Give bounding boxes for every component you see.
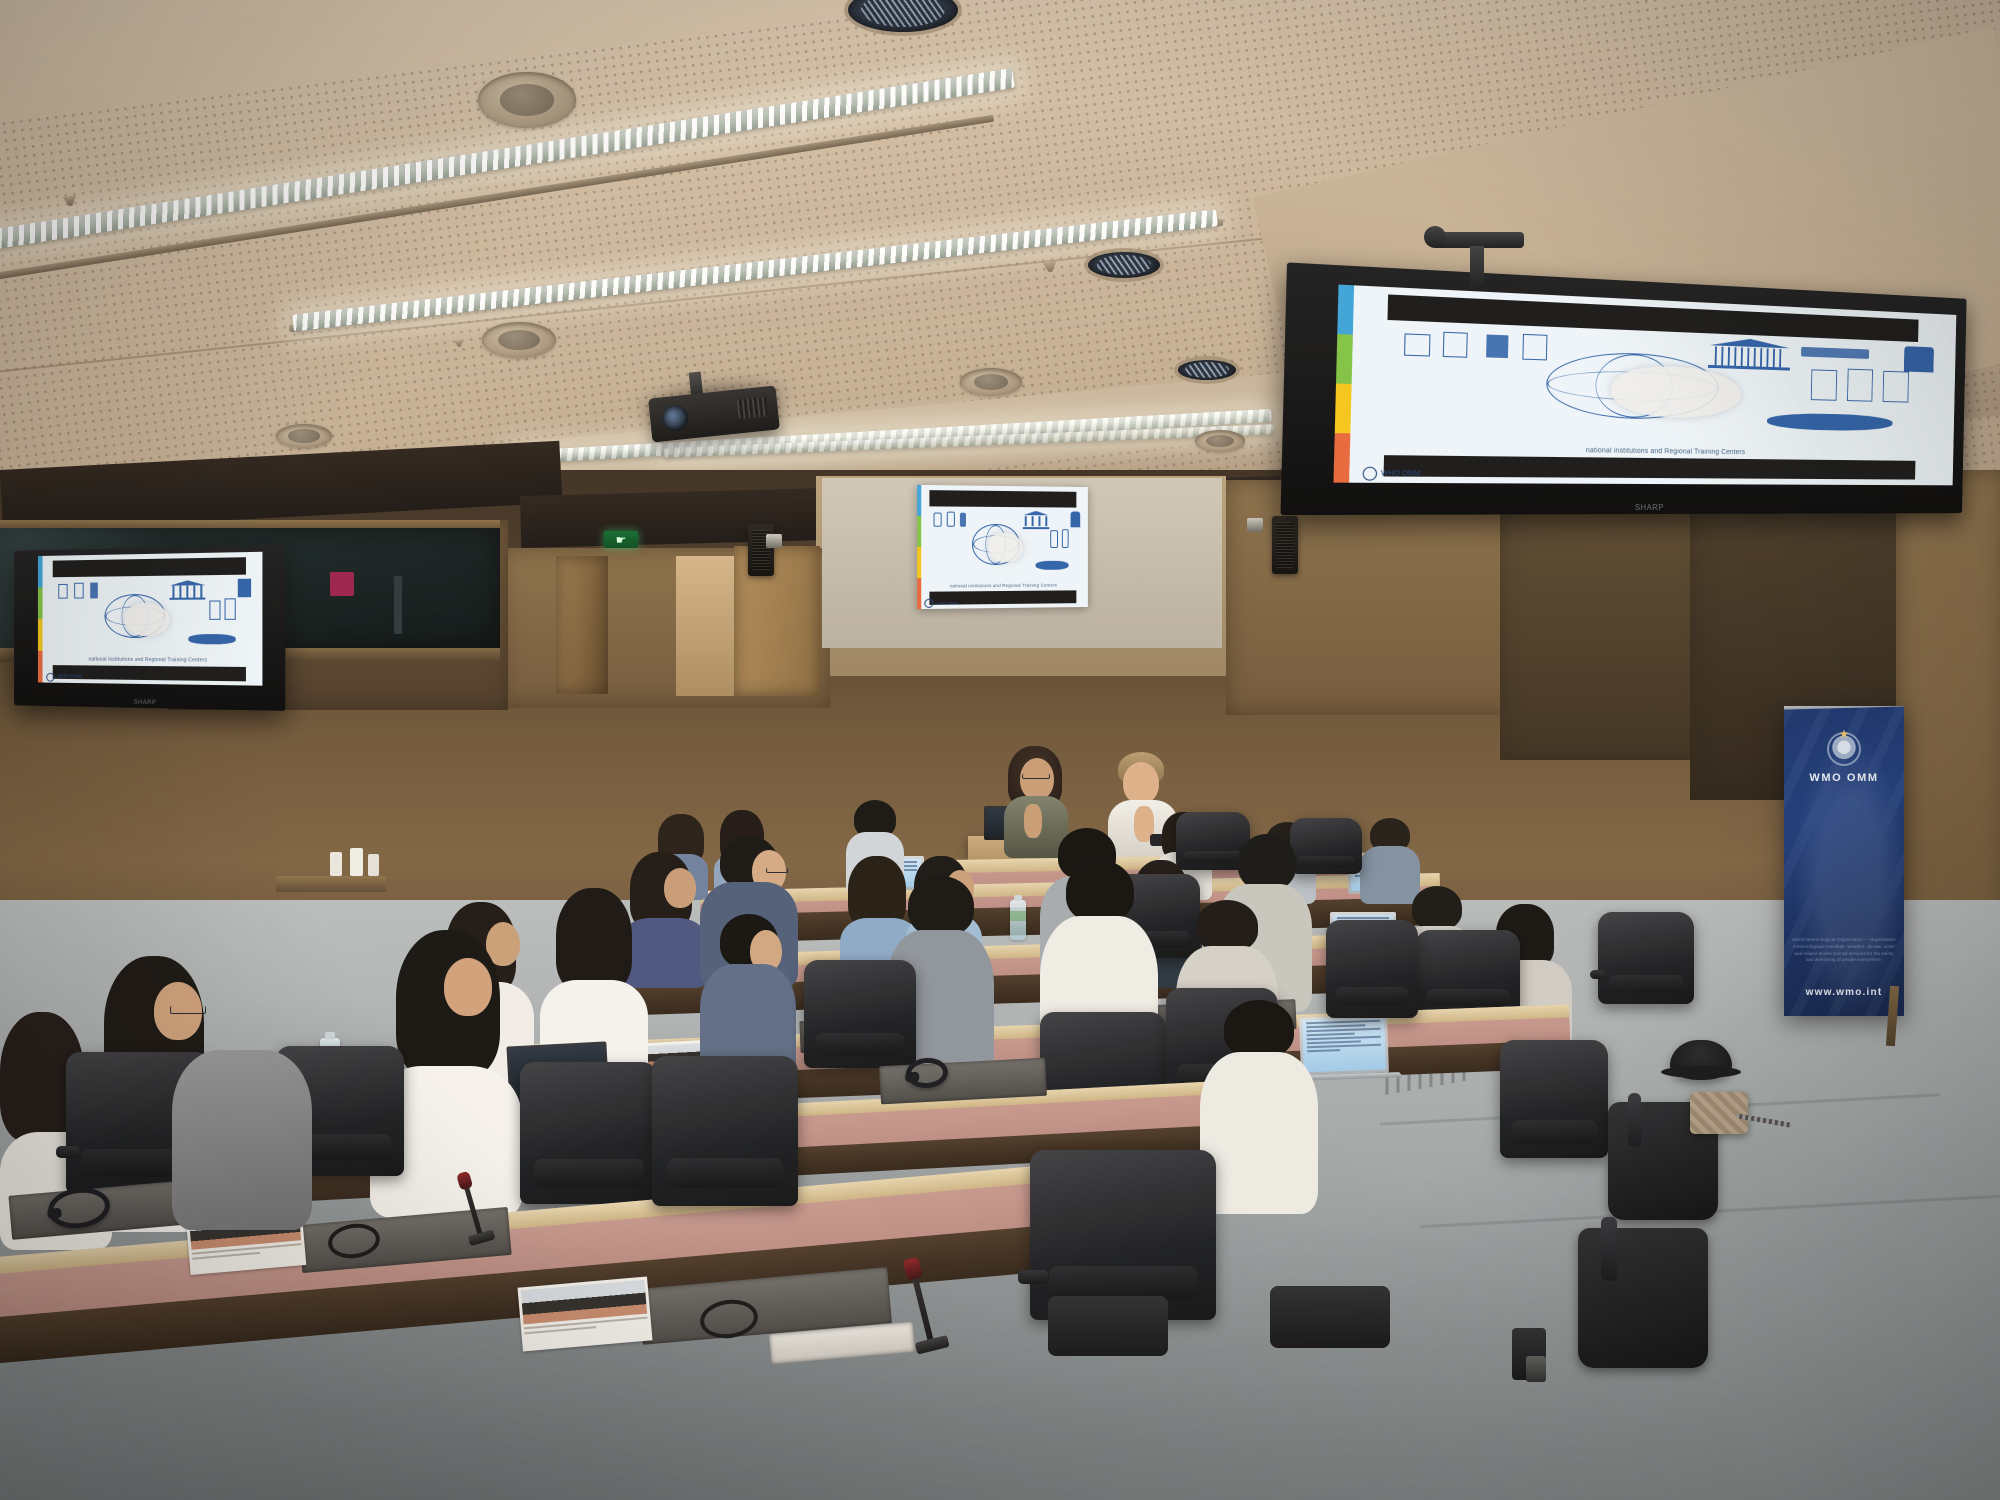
map-blob-icon xyxy=(1035,560,1069,570)
tv-brand-label: SHARP xyxy=(1635,503,1664,512)
institution-building-icon xyxy=(170,580,206,600)
banner-org-name: WMO OMM xyxy=(1784,772,1904,784)
slide-artwork xyxy=(1363,323,1934,444)
chair[interactable] xyxy=(1500,1040,1608,1158)
slide-caption: national institutions and Regional Train… xyxy=(928,583,1078,589)
person-figure-icon xyxy=(225,599,236,620)
slide-artwork xyxy=(924,509,1081,580)
water-bottle xyxy=(1010,900,1026,940)
person-figure-icon xyxy=(1404,334,1430,357)
chair[interactable] xyxy=(804,960,916,1068)
slide-color-ribbon xyxy=(38,556,43,683)
slide-letterbox-top xyxy=(53,557,246,577)
tv-right: national institutions and Regional Train… xyxy=(1280,262,1966,515)
tv-brand-label: SHARP xyxy=(134,700,157,706)
slide-logo-text: WHO OMM xyxy=(58,674,82,680)
handbag xyxy=(1690,1092,1748,1134)
map-blob-icon xyxy=(1767,413,1893,432)
booth-divider xyxy=(394,576,402,634)
cup-stack xyxy=(350,848,363,876)
booth-sign xyxy=(330,572,354,596)
person-figure-icon xyxy=(1486,335,1508,359)
chair-seat[interactable] xyxy=(1270,1286,1390,1348)
person-figure-icon xyxy=(1847,369,1873,402)
printed-handout xyxy=(517,1276,652,1351)
ceiling-vent xyxy=(1088,252,1160,278)
glasses-icon xyxy=(1022,774,1050,779)
chair[interactable] xyxy=(652,1056,798,1206)
banner-blurb: World Meteorological Organization — Orga… xyxy=(1792,937,1896,964)
slide-logo: WHO OMM xyxy=(46,673,81,682)
slide-logo: WHO OMM xyxy=(924,598,957,607)
person-figure-icon xyxy=(1904,346,1934,373)
banner-url: www.wmo.int xyxy=(1784,987,1904,998)
face xyxy=(1020,758,1054,800)
ceiling-speaker xyxy=(478,72,576,128)
ceiling-speaker xyxy=(482,322,556,358)
slide-logo-text: WHO OMM xyxy=(1381,470,1421,478)
wall-speaker xyxy=(748,524,774,576)
ceiling-speaker xyxy=(276,424,332,448)
map-blob-icon xyxy=(189,634,236,645)
slide-letterbox-bottom xyxy=(53,665,246,682)
un-emblem-icon xyxy=(924,599,933,608)
person-figure-icon xyxy=(934,513,942,527)
door[interactable] xyxy=(556,556,608,694)
exit-running-man-icon: ☛ xyxy=(616,534,627,546)
hat xyxy=(1670,1040,1732,1080)
chair-seat[interactable] xyxy=(1048,1296,1168,1356)
projector-vent-icon xyxy=(737,396,769,419)
backpack xyxy=(1578,1228,1708,1368)
wall-camera-icon xyxy=(1247,518,1263,532)
door-open[interactable] xyxy=(676,556,734,696)
face xyxy=(1123,762,1159,804)
exit-sign: ☛ xyxy=(604,531,638,548)
person-figure-icon xyxy=(1061,529,1069,548)
person-figure-icon xyxy=(238,579,251,597)
person-figure-icon xyxy=(1051,530,1059,548)
chair[interactable] xyxy=(1326,920,1418,1018)
slide-content: national institutions and Regional Train… xyxy=(917,485,1088,609)
person-figure-icon xyxy=(1810,370,1837,401)
slide-letterbox-bottom xyxy=(1383,455,1915,480)
wall-camera-icon xyxy=(766,534,782,548)
projector-lens-icon xyxy=(661,404,690,433)
tv-mount-post xyxy=(1470,246,1484,290)
person-figure-icon xyxy=(947,512,955,528)
books-icon xyxy=(1801,347,1869,359)
side-table xyxy=(276,876,386,892)
attendee xyxy=(172,1050,312,1250)
slide-content: national institutions and Regional Train… xyxy=(1333,285,1956,486)
chair[interactable] xyxy=(520,1062,658,1204)
slide-logo: WHO OMM xyxy=(1362,467,1420,481)
cup-stack xyxy=(330,852,342,876)
person-figure-icon xyxy=(90,583,98,598)
person-figure-icon xyxy=(74,582,84,598)
wmo-crest-icon xyxy=(1827,732,1861,766)
person-figure-icon xyxy=(210,600,221,620)
slide-content: national institutions and Regional Train… xyxy=(38,552,263,686)
person-figure-icon xyxy=(1442,332,1468,358)
slide-artwork xyxy=(46,577,253,653)
institution-building-icon xyxy=(1023,511,1049,529)
conference-room-photo: ☛ national institution xyxy=(0,0,2000,1500)
floor-item xyxy=(1526,1356,1546,1382)
person-figure-icon xyxy=(1523,334,1548,361)
chair[interactable] xyxy=(1030,1150,1216,1320)
slide-letterbox-top xyxy=(929,490,1076,507)
front-wall-panel xyxy=(1226,480,1526,715)
slide-color-ribbon xyxy=(917,485,921,609)
person-figure-icon xyxy=(1883,371,1909,402)
tv-left: national institutions and Regional Train… xyxy=(14,545,285,711)
person-figure-icon xyxy=(58,584,68,599)
institution-building-icon xyxy=(1708,337,1790,371)
ceiling-speaker xyxy=(1195,430,1245,452)
person-figure-icon xyxy=(960,512,966,527)
cup-stack xyxy=(368,854,379,876)
chair[interactable] xyxy=(1416,930,1520,1016)
tv-mount-joint xyxy=(1424,226,1446,248)
slide-logo-text: WHO OMM xyxy=(936,600,957,605)
chair[interactable] xyxy=(1598,912,1694,1004)
person-figure-icon xyxy=(1071,511,1080,527)
wmo-rollup-banner: WMO OMM World Meteorological Organizatio… xyxy=(1784,706,1904,1016)
ceiling-vent xyxy=(1178,360,1236,380)
un-emblem-icon xyxy=(1362,467,1377,481)
drawing-hand xyxy=(124,603,169,636)
door[interactable] xyxy=(734,546,820,696)
wall-speaker xyxy=(1272,516,1298,574)
drawing-hand xyxy=(988,533,1023,562)
ceiling-speaker xyxy=(960,368,1022,396)
projection-screen: national institutions and Regional Train… xyxy=(917,485,1088,609)
un-emblem-icon xyxy=(46,673,54,682)
attendee xyxy=(1200,1000,1316,1210)
slide-caption: national institutions and Regional Train… xyxy=(51,656,249,664)
